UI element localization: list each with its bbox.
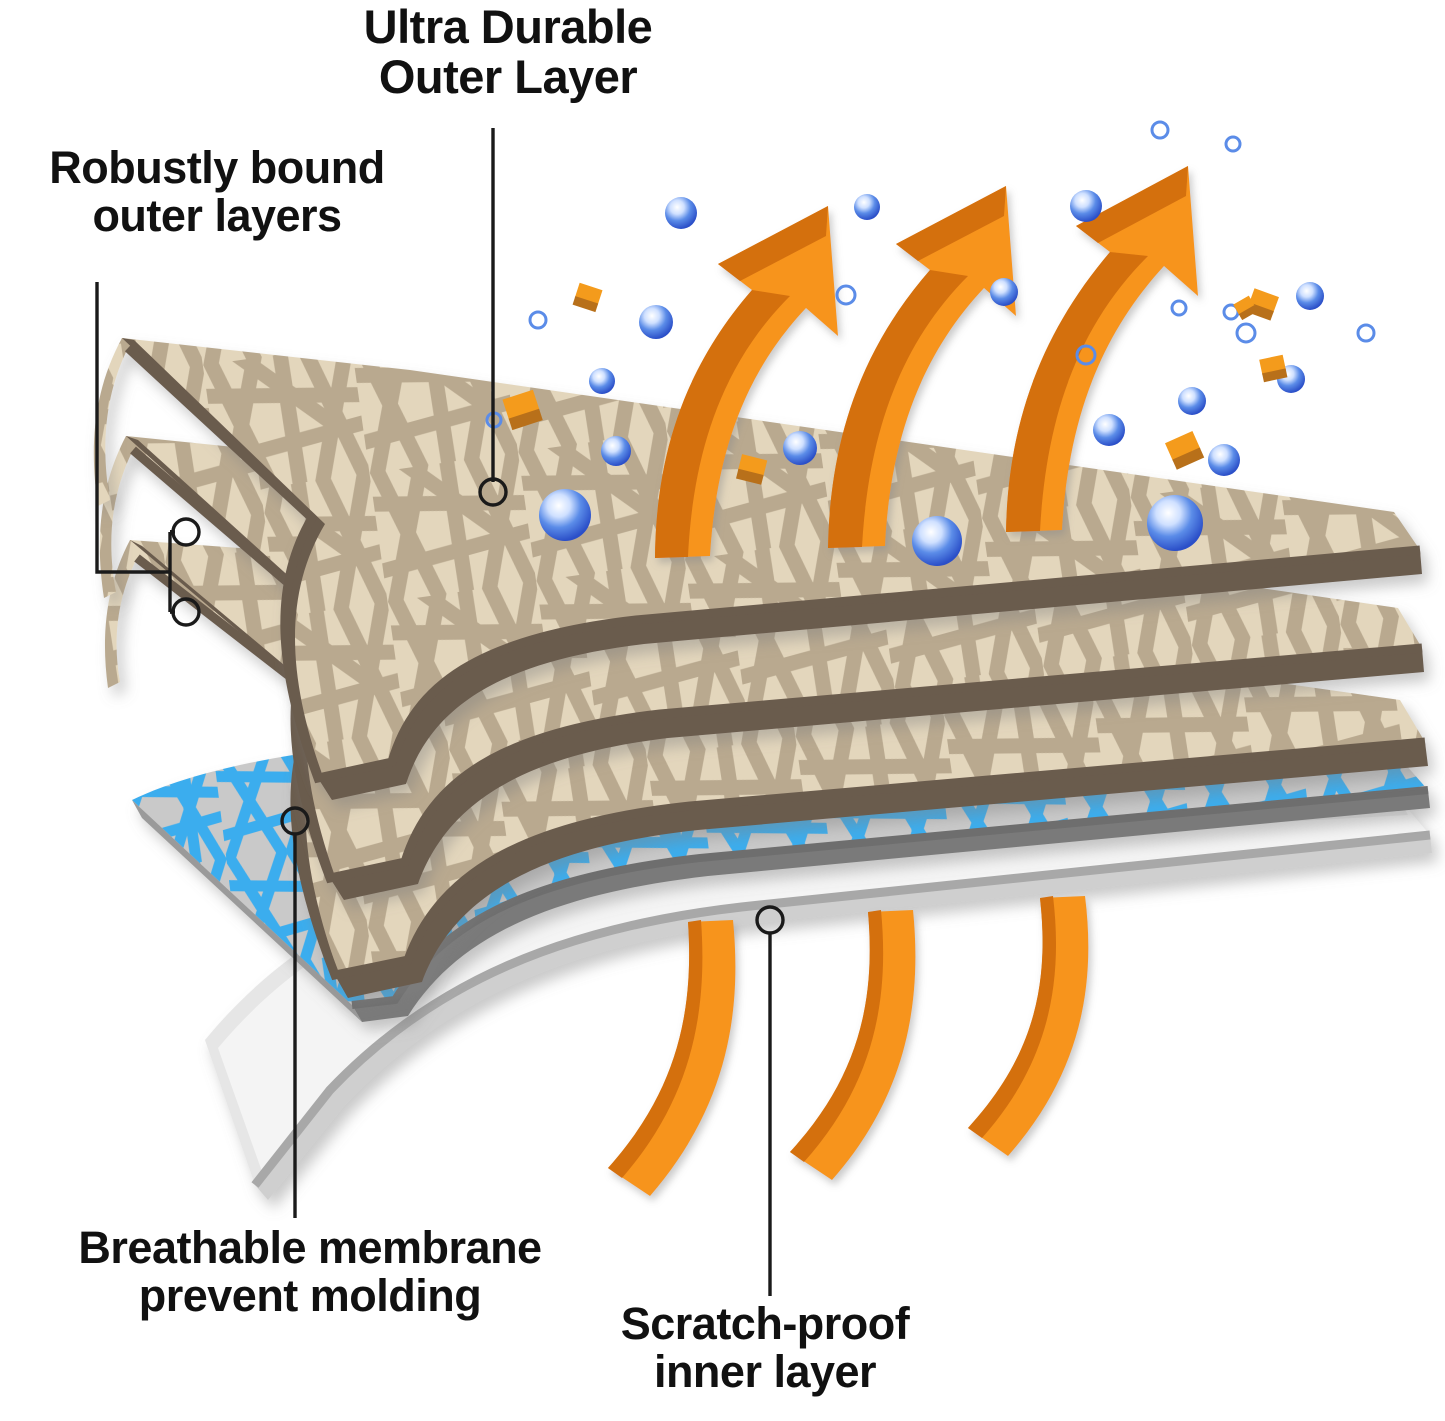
layered-fabric-diagram: Ultra Durable Outer Layer Robustly bound… — [0, 0, 1445, 1421]
label-breathable-membrane: Breathable membrane prevent molding — [0, 1224, 620, 1319]
label-robustly-bound-outer-layers: Robustly bound outer layers — [2, 144, 432, 239]
arrow-down-1 — [608, 920, 735, 1196]
callout-scratch — [757, 907, 783, 1296]
marker-circle-upper — [173, 519, 199, 545]
label-scratch-proof-inner-layer: Scratch-proof inner layer — [580, 1300, 950, 1395]
label-ultra-durable-outer-layer: Ultra Durable Outer Layer — [318, 2, 698, 102]
airflow-arrows-down — [608, 896, 1088, 1196]
arrow-down-2 — [790, 910, 915, 1180]
marker-circle-lower — [173, 599, 199, 625]
arrow-down-3 — [968, 896, 1088, 1156]
